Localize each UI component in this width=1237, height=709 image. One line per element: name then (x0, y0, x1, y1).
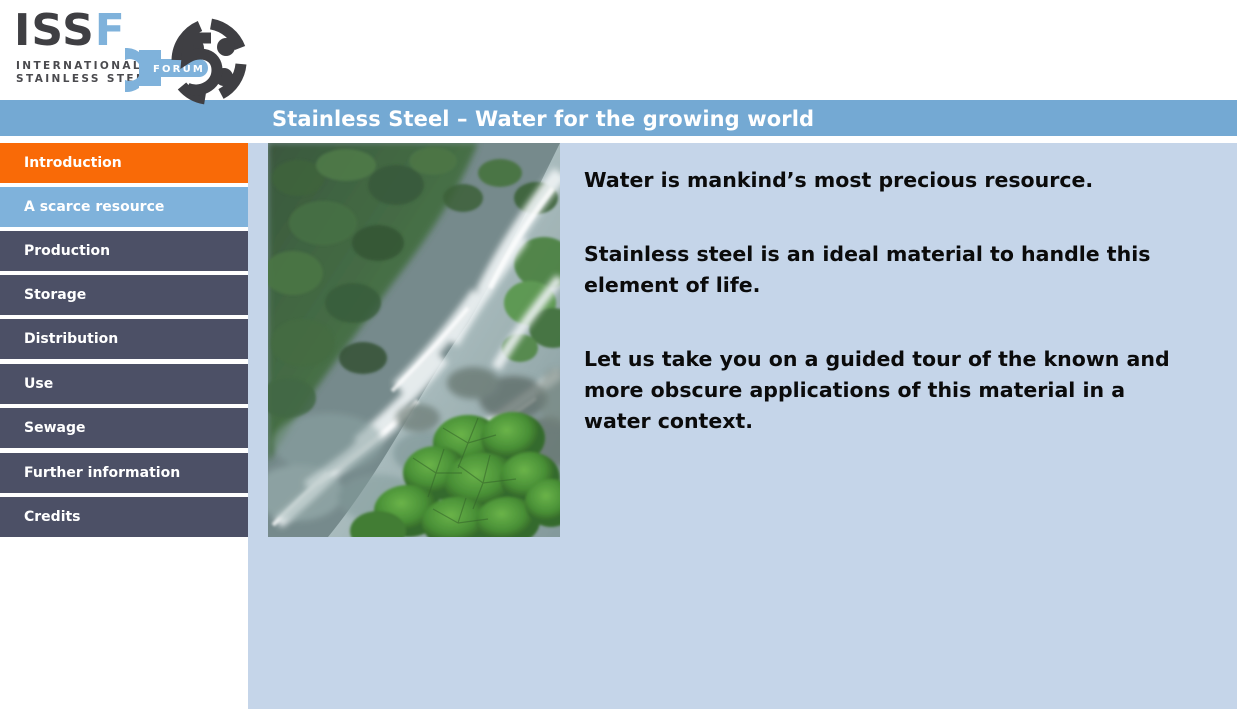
intro-paragraph-1: Water is mankind’s most precious resourc… (584, 165, 1194, 196)
emblem-forum-text: FORUM (153, 64, 205, 75)
sidebar-item-use[interactable]: Use (0, 364, 248, 404)
sidebar-item-label: Credits (24, 509, 81, 525)
sidebar-item-a-scarce-resource[interactable]: A scarce resource (0, 187, 248, 227)
intro-text-block: Water is mankind’s most precious resourc… (584, 165, 1194, 437)
sidebar-item-label: Storage (24, 287, 86, 303)
intro-paragraph-3: Let us take you on a guided tour of the … (584, 344, 1194, 437)
sidebar-item-distribution[interactable]: Distribution (0, 319, 248, 359)
sidebar-item-label: Production (24, 243, 110, 259)
stream-photo (268, 143, 560, 537)
issf-wordmark: ISSF (14, 8, 126, 54)
sidebar-nav: Introduction A scarce resource Productio… (0, 143, 248, 709)
issf-wordmark-dark: ISS (14, 5, 95, 56)
sidebar-item-label: Distribution (24, 331, 118, 347)
sidebar-item-label: Sewage (24, 420, 85, 436)
page-title: Stainless Steel – Water for the growing … (272, 107, 814, 131)
sidebar-item-further-information[interactable]: Further information (0, 453, 248, 493)
sidebar-item-credits[interactable]: Credits (0, 497, 248, 537)
issf-wordmark-blue: F (95, 5, 126, 56)
sidebar-item-introduction[interactable]: Introduction (0, 143, 248, 183)
sidebar-item-production[interactable]: Production (0, 231, 248, 271)
sidebar-item-label: Further information (24, 465, 180, 481)
sidebar-item-label: Use (24, 376, 53, 392)
sidebar-item-sewage[interactable]: Sewage (0, 408, 248, 448)
sidebar-item-label: A scarce resource (24, 199, 164, 215)
intro-paragraph-2: Stainless steel is an ideal material to … (584, 239, 1194, 301)
sidebar-item-storage[interactable]: Storage (0, 275, 248, 315)
issf-emblem-icon: FORUM (125, 4, 270, 108)
page-header: ISSF INTERNATIONAL STAINLESS STEEL FORUM (0, 0, 1237, 100)
issf-logo[interactable]: ISSF INTERNATIONAL STAINLESS STEEL FORUM (10, 4, 260, 99)
sidebar-item-label: Introduction (24, 155, 122, 171)
